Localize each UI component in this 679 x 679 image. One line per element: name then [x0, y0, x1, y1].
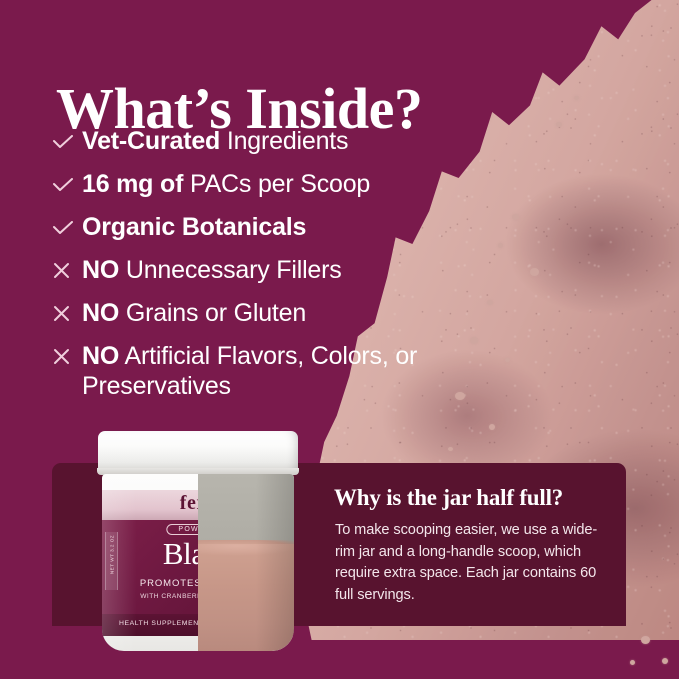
- powder-speck: [556, 122, 562, 127]
- jar-empty-space: [198, 474, 294, 550]
- check-icon: [50, 126, 82, 149]
- powder-speck: [489, 424, 495, 430]
- powder-speck: [448, 447, 453, 451]
- powder-speck: [574, 96, 579, 100]
- powder-speck: [505, 358, 510, 362]
- list-item-strong: Organic Botanicals: [82, 213, 306, 241]
- jar-cutaway-view: [198, 474, 294, 651]
- list-item-rest: Ingredients: [220, 127, 348, 155]
- cross-icon: [50, 255, 82, 280]
- list-item-text: NO Grains or Gluten: [82, 298, 306, 328]
- check-icon: [50, 212, 82, 235]
- powder-speck: [487, 300, 493, 305]
- jar-lid: [98, 431, 298, 471]
- product-jar-image: fera POWDER Black PROMOTES BLADDER WITH …: [96, 431, 300, 651]
- list-item-strong: NO: [82, 342, 119, 370]
- check-icon: [50, 169, 82, 192]
- list-item: NO Grains or Gluten: [50, 298, 480, 328]
- jar-powder-fill: [198, 544, 294, 651]
- list-item-strong: NO: [82, 299, 119, 327]
- list-item-strong: NO: [82, 256, 119, 284]
- label-side-strip: NET WT 3.2 OZ: [105, 532, 118, 590]
- list-item-text: Vet-Curated Ingredients: [82, 126, 348, 156]
- list-item-text: NO Artificial Flavors, Colors, or Preser…: [82, 341, 480, 401]
- list-item: NO Artificial Flavors, Colors, or Preser…: [50, 341, 480, 401]
- benefits-list: Vet-Curated Ingredients 16 mg of PACs pe…: [50, 126, 480, 414]
- list-item-text: NO Unnecessary Fillers: [82, 255, 342, 285]
- cross-icon: [50, 298, 82, 323]
- list-item: NO Unnecessary Fillers: [50, 255, 480, 285]
- list-item-rest: PACs per Scoop: [183, 170, 370, 198]
- list-item-rest: Unnecessary Fillers: [119, 256, 341, 284]
- label-side-strip-text: NET WT 3.2 OZ: [110, 532, 115, 578]
- cross-icon: [50, 341, 82, 366]
- powder-speck: [498, 243, 503, 248]
- product-infographic: What’s Inside? Vet-Curated Ingredients 1…: [0, 0, 679, 679]
- list-item: Organic Botanicals: [50, 212, 480, 242]
- list-item: 16 mg of PACs per Scoop: [50, 169, 480, 199]
- powder-speck: [641, 636, 650, 644]
- list-item-rest: Grains or Gluten: [119, 299, 306, 327]
- card-body-text: To make scooping easier, we use a wide-r…: [335, 520, 611, 606]
- powder-speck: [630, 660, 635, 665]
- card-title: Why is the jar half full?: [334, 485, 563, 511]
- list-item-strong: 16 mg of: [82, 170, 183, 198]
- powder-speck: [530, 268, 539, 276]
- powder-speck: [662, 658, 668, 664]
- list-item-rest: Artificial Flavors, Colors, or Preservat…: [82, 342, 417, 400]
- list-item: Vet-Curated Ingredients: [50, 126, 480, 156]
- list-item-strong: Vet-Curated: [82, 127, 220, 155]
- list-item-text: 16 mg of PACs per Scoop: [82, 169, 370, 199]
- powder-speck: [512, 214, 519, 220]
- jar-body: fera POWDER Black PROMOTES BLADDER WITH …: [102, 474, 294, 651]
- list-item-text: Organic Botanicals: [82, 212, 306, 242]
